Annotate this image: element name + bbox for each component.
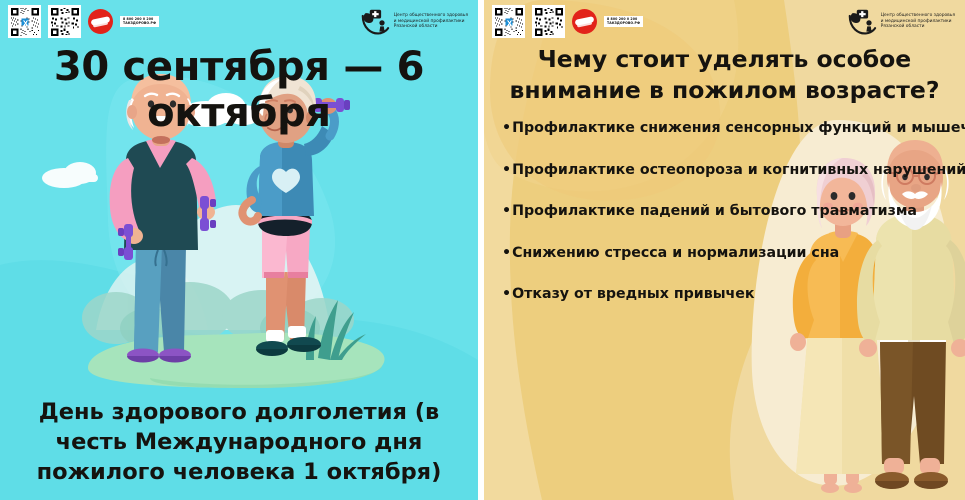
org-logo-text: Центр общественного здоровья и медицинск…	[881, 13, 955, 30]
bullet-icon: •	[502, 120, 511, 136]
list-item: •Отказу от вредных привычек	[502, 286, 959, 302]
poster-pair: 8 800 200 0 200 ТАКЗДОРОВО.РФ Центр обще…	[0, 0, 965, 500]
org-logo: Центр общественного здоровья и медицинск…	[847, 8, 959, 36]
list-item-label: Снижению стресса и нормализации сна	[512, 245, 839, 261]
left-poster-caption: День здорового долголетия (в честь Между…	[0, 398, 478, 488]
org-line-1: Центр общественного здоровья	[881, 13, 955, 19]
left-header-bar: 8 800 200 0 200 ТАКЗДОРОВО.РФ Центр обще…	[0, 0, 478, 40]
hotline-box: 8 800 200 0 200 ТАКЗДОРОВО.РФ	[120, 16, 159, 27]
hotline-site: ТАКЗДОРОВО.РФ	[123, 22, 156, 25]
left-poster-title: 30 сентября — 6 октября	[0, 44, 478, 136]
left-poster-panel: 8 800 200 0 200 ТАКЗДОРОВО.РФ Центр обще…	[0, 0, 478, 500]
right-header-bar: 8 800 200 0 200 ТАКЗДОРОВО.РФ Центр обще…	[484, 0, 965, 40]
qr-code-site[interactable]	[532, 5, 565, 38]
org-line-3: Рязанской области	[881, 24, 955, 30]
bullet-icon: •	[502, 162, 511, 178]
right-poster-title: Чему стоит уделять особое внимание в пож…	[484, 44, 965, 106]
list-item: •Снижению стресса и нормализации сна	[502, 245, 959, 261]
org-line-1: Центр общественного здоровья	[394, 13, 468, 19]
org-logo: Центр общественного здоровья и медицинск…	[360, 8, 472, 36]
list-item: •Профилактике падений и бытового травмат…	[502, 203, 959, 219]
megaphone-badge-icon	[572, 9, 597, 34]
qr-code-site[interactable]	[48, 5, 81, 38]
org-logo-text: Центр общественного здоровья и медицинск…	[394, 13, 468, 30]
org-line-3: Рязанской области	[394, 24, 468, 30]
health-center-logo-icon	[360, 8, 390, 36]
list-item-label: Профилактике остеопороза и когнитивных н…	[512, 162, 965, 178]
focus-areas-list: •Профилактике снижения сенсорных функций…	[502, 120, 959, 328]
qr-code-vk[interactable]	[492, 5, 525, 38]
bullet-icon: •	[502, 203, 511, 219]
bullet-icon: •	[502, 245, 511, 261]
list-item: •Профилактике остеопороза и когнитивных …	[502, 162, 959, 178]
list-item-label: Отказу от вредных привычек	[512, 286, 754, 302]
megaphone-badge-icon	[88, 9, 113, 34]
list-item-label: Профилактике снижения сенсорных функций …	[512, 120, 965, 136]
bullet-icon: •	[502, 286, 511, 302]
hotline-box: 8 800 200 0 200 ТАКЗДОРОВО.РФ	[604, 16, 643, 27]
right-poster-panel: 8 800 200 0 200 ТАКЗДОРОВО.РФ Центр обще…	[484, 0, 965, 500]
list-item: •Профилактике снижения сенсорных функций…	[502, 120, 959, 136]
list-item-label: Профилактике падений и бытового травмати…	[512, 203, 917, 219]
health-center-logo-icon	[847, 8, 877, 36]
hotline-site: ТАКЗДОРОВО.РФ	[607, 22, 640, 25]
qr-code-vk[interactable]	[8, 5, 41, 38]
